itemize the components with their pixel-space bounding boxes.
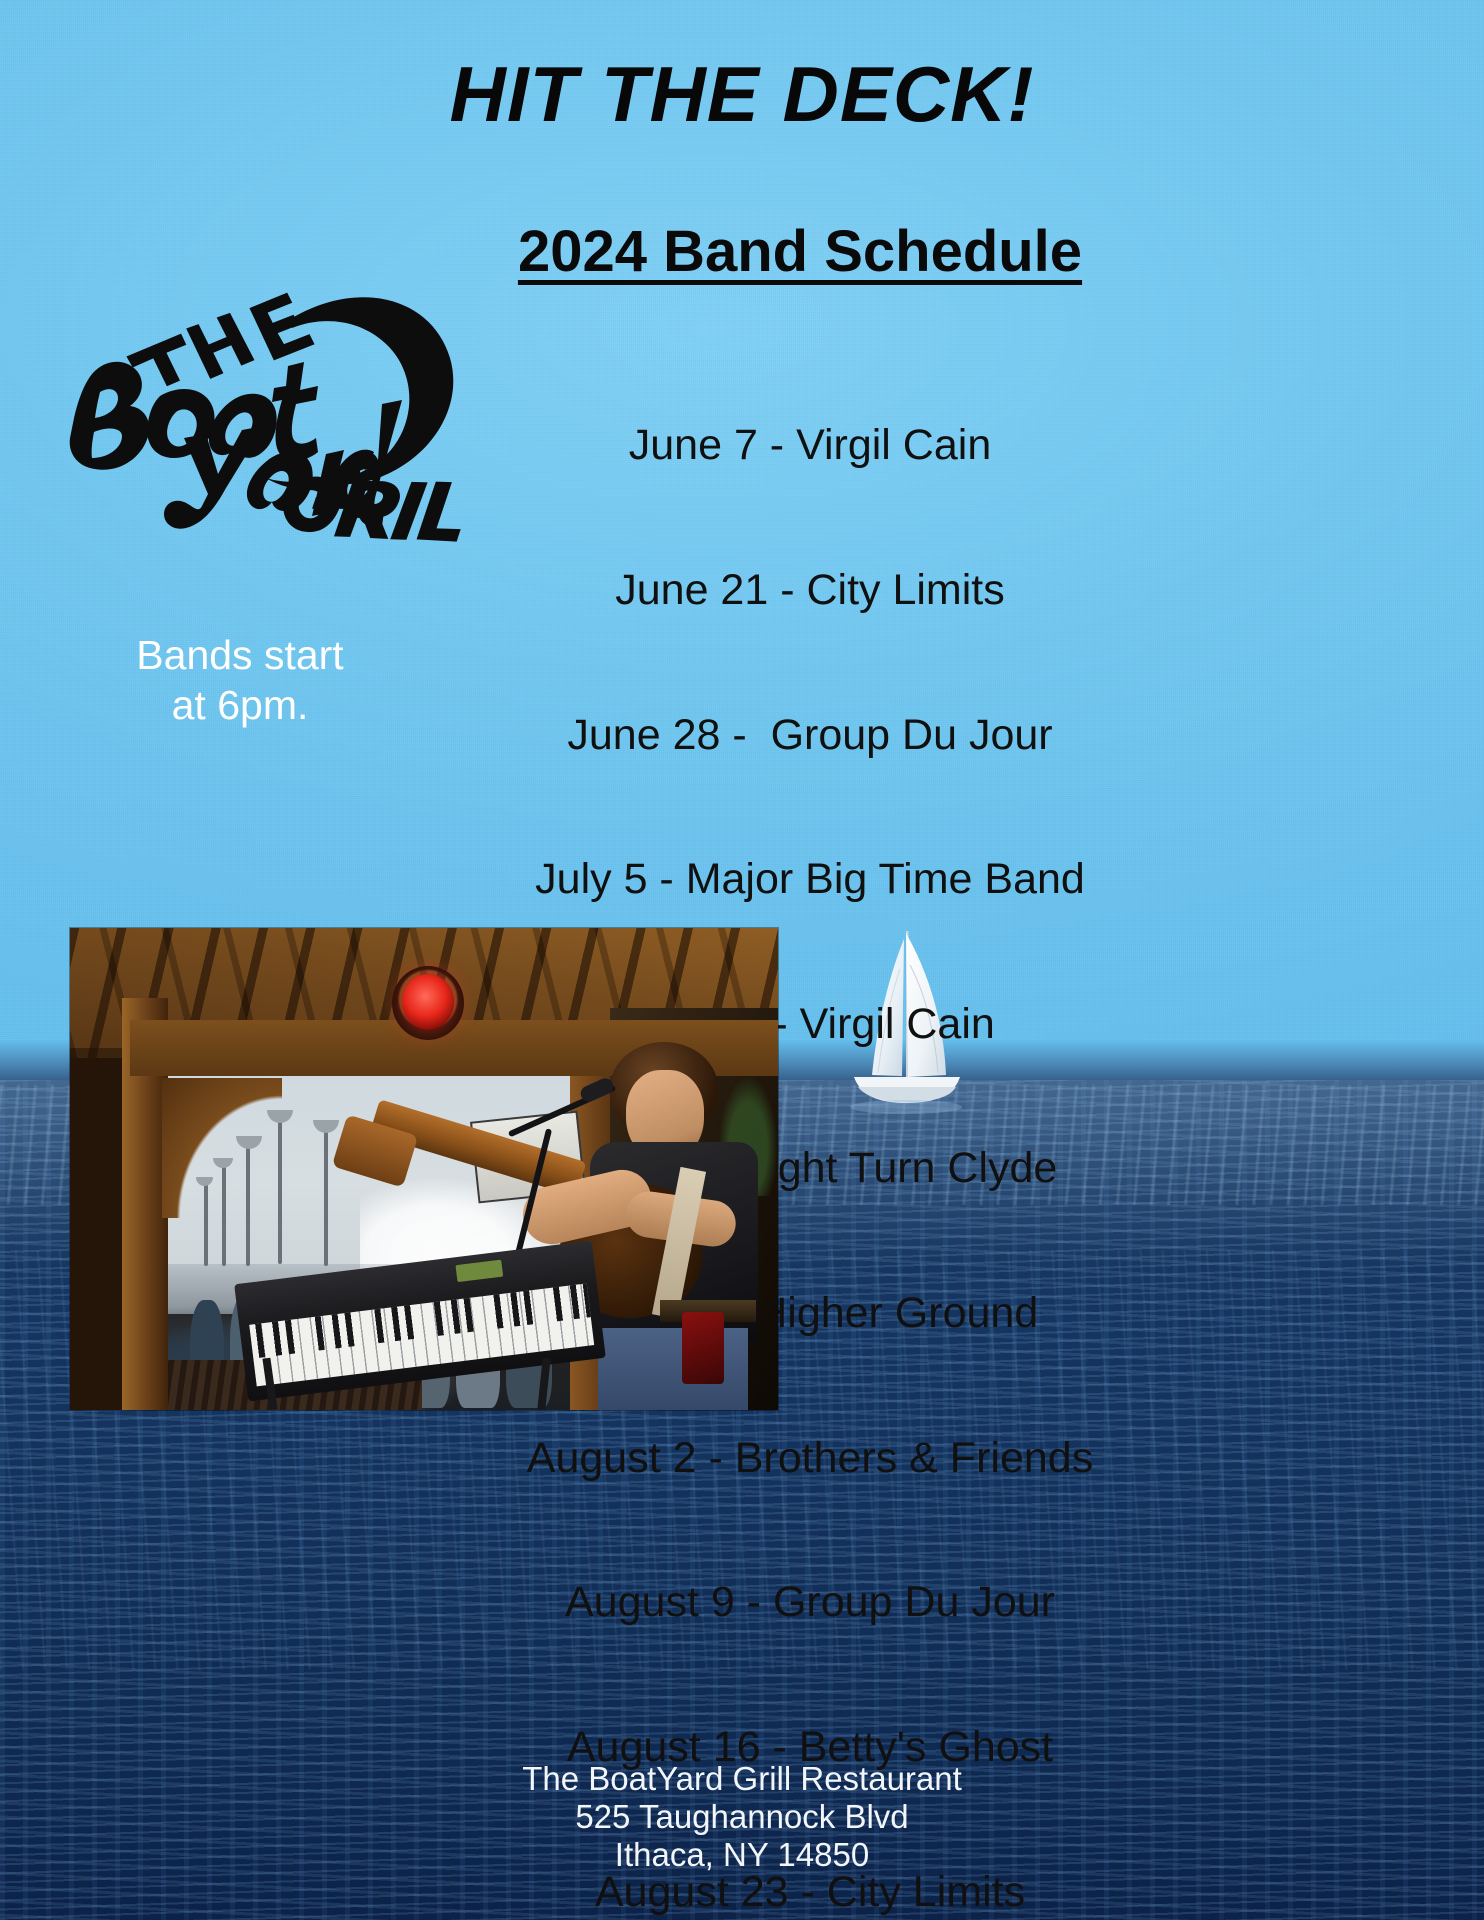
schedule-heading: 2024 Band Schedule <box>420 218 1180 285</box>
deck-band-photo <box>70 928 778 1410</box>
photo-keyboard-screen <box>455 1260 503 1282</box>
photo-lamppost <box>324 1124 328 1266</box>
schedule-row: June 21 - City Limits <box>400 566 1220 614</box>
poster-canvas: HIT THE DECK! <box>0 0 1484 1920</box>
photo-belt-pouch <box>682 1312 724 1384</box>
schedule-row: August 2 - Brothers & Friends <box>400 1434 1220 1482</box>
address-line-name: The BoatYard Grill Restaurant <box>0 1760 1484 1798</box>
bands-start-time-note: Bands start at 6pm. <box>60 630 420 730</box>
address-line-street: 525 Taughannock Blvd <box>0 1798 1484 1836</box>
restaurant-address: The BoatYard Grill Restaurant 525 Taugha… <box>0 1760 1484 1874</box>
schedule-row: August 9 - Group Du Jour <box>400 1578 1220 1626</box>
schedule-row: June 7 - Virgil Cain <box>400 421 1220 469</box>
photo-corner-bracket <box>162 1078 282 1218</box>
schedule-row: June 28 - Group Du Jour <box>400 711 1220 759</box>
schedule-row: July 5 - Major Big Time Band <box>400 855 1220 903</box>
bands-note-line-1: Bands start <box>136 632 343 678</box>
schedule-row: August 23 - City Limits <box>400 1868 1220 1916</box>
bands-note-line-2: at 6pm. <box>172 682 309 728</box>
page-title: HIT THE DECK! <box>0 55 1484 133</box>
address-line-city: Ithaca, NY 14850 <box>0 1836 1484 1874</box>
photo-musician-jeans <box>598 1328 748 1410</box>
photo-red-lamp <box>402 974 454 1030</box>
